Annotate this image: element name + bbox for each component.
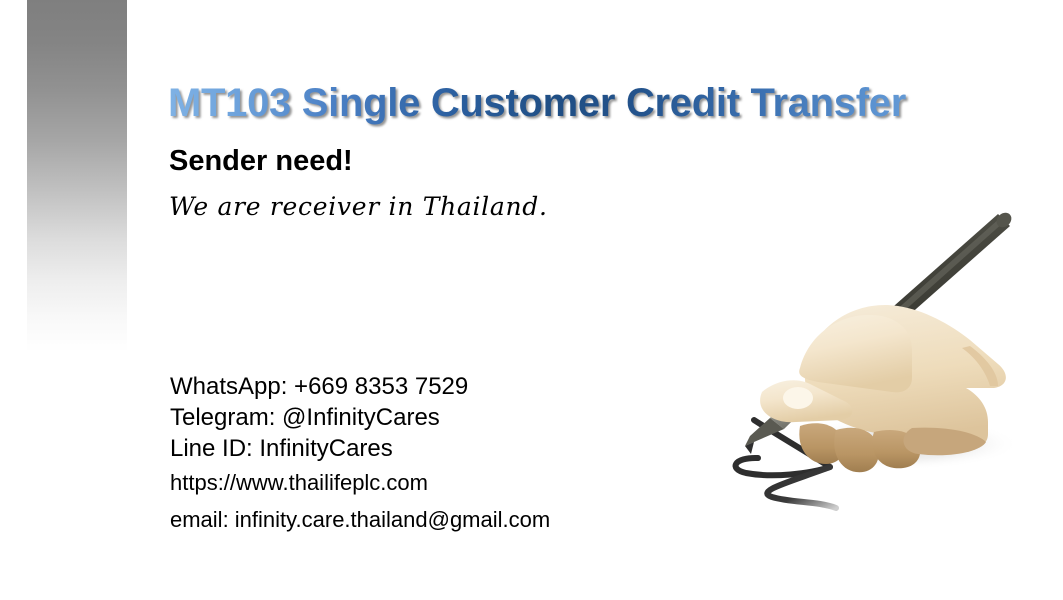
script-tagline: We are receiver in Thailand. (169, 192, 548, 221)
contact-telegram: Telegram: @InfinityCares (170, 402, 690, 433)
hand-writing-with-pen-illustration (650, 196, 1060, 536)
gradient-accent-bar (27, 0, 127, 352)
contact-line-id: Line ID: InfinityCares (170, 433, 690, 464)
page-title: MT103 Single Customer Credit Transfer (168, 78, 1008, 128)
contact-details-block: WhatsApp: +669 8353 7529 Telegram: @Infi… (170, 371, 690, 538)
subheading: Sender need! (169, 145, 353, 178)
hand-index-knuckle (799, 315, 912, 392)
contact-whatsapp: WhatsApp: +669 8353 7529 (170, 371, 690, 402)
slide-canvas: MT103 Single Customer Credit Transfer Se… (0, 0, 1063, 600)
thumb-tip-highlight (783, 387, 813, 409)
contact-website[interactable]: https://www.thailifeplc.com (170, 464, 690, 501)
contact-email[interactable]: email: infinity.care.thailand@gmail.com (170, 501, 690, 538)
